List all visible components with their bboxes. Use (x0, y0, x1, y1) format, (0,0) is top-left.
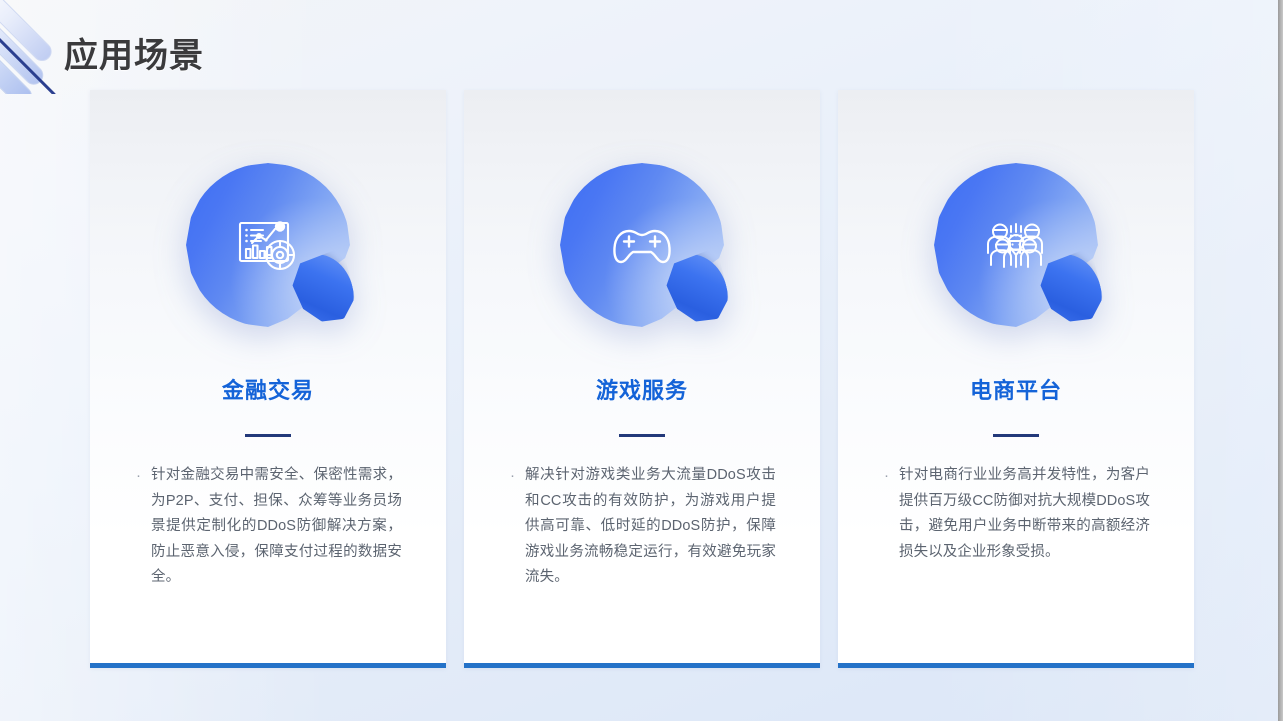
card-description: 针对金融交易中需安全、保密性需求，为P2P、支付、担保、众筹等业务员场景提供定制… (151, 463, 402, 591)
finance-analytics-icon (186, 163, 350, 327)
bullet-marker: · (508, 463, 515, 489)
people-group-icon (934, 163, 1098, 327)
card-title: 金融交易 (222, 373, 314, 405)
sticker-badge-ecommerce (934, 163, 1098, 327)
bullet-marker: · (134, 463, 141, 489)
card-description: 针对电商行业业务高并发特性，为客户提供百万级CC防御对抗大规模DDoS攻击，避免… (899, 463, 1150, 565)
bullet-marker: · (882, 463, 889, 489)
page-header: 应用场景 (0, 0, 1278, 92)
card-divider (245, 434, 291, 437)
card-title: 游戏服务 (596, 373, 688, 405)
scenario-card-finance[interactable]: 金融交易 · 针对金融交易中需安全、保密性需求，为P2P、支付、担保、众筹等业务… (90, 90, 446, 668)
slide-canvas: 应用场景 (0, 0, 1278, 721)
card-body: · 针对电商行业业务高并发特性，为客户提供百万级CC防御对抗大规模DDoS攻击，… (882, 463, 1150, 565)
scenario-card-ecommerce[interactable]: 电商平台 · 针对电商行业业务高并发特性，为客户提供百万级CC防御对抗大规模DD… (838, 90, 1194, 668)
card-body: · 解决针对游戏类业务大流量DDoS攻击和CC攻击的有效防护，为游戏用户提供高可… (508, 463, 776, 591)
game-controller-icon (560, 163, 724, 327)
card-body: · 针对金融交易中需安全、保密性需求，为P2P、支付、担保、众筹等业务员场景提供… (134, 463, 402, 591)
card-title: 电商平台 (970, 373, 1062, 405)
card-divider (993, 434, 1039, 437)
page-title: 应用场景 (64, 28, 204, 77)
window-edge-strip (1278, 0, 1283, 721)
scenario-card-list: 金融交易 · 针对金融交易中需安全、保密性需求，为P2P、支付、担保、众筹等业务… (90, 90, 1194, 668)
card-description: 解决针对游戏类业务大流量DDoS攻击和CC攻击的有效防护，为游戏用户提供高可靠、… (525, 463, 776, 591)
sticker-badge-finance (186, 163, 350, 327)
card-divider (619, 434, 665, 437)
scenario-card-gaming[interactable]: 游戏服务 · 解决针对游戏类业务大流量DDoS攻击和CC攻击的有效防护，为游戏用… (464, 90, 820, 668)
sticker-badge-gaming (560, 163, 724, 327)
